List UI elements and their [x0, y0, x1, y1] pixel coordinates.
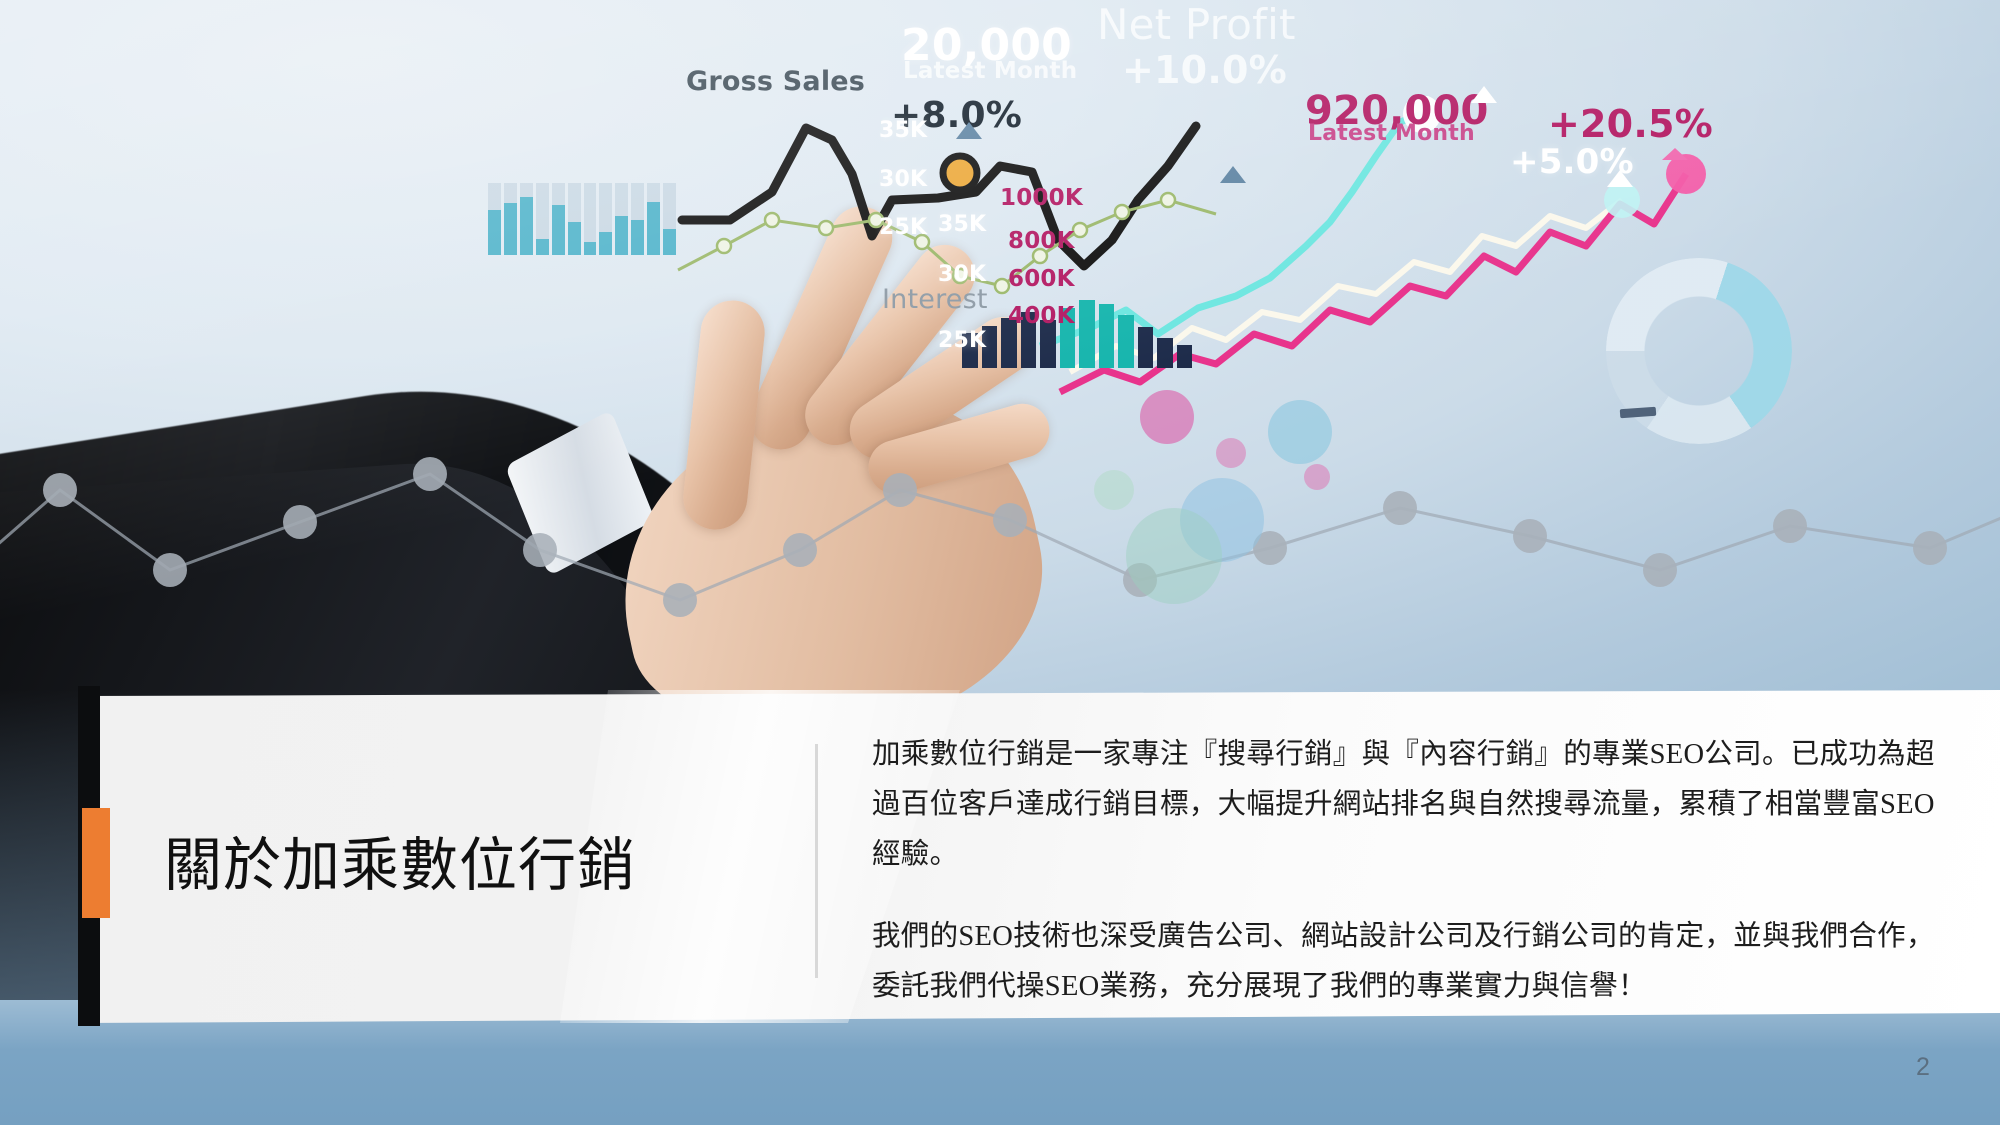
up-triangle-icon	[1471, 86, 1497, 103]
secondary-bar-chart	[962, 300, 1192, 368]
up-triangle-icon	[1662, 148, 1688, 160]
axis-tick-magenta-0: 1000K	[1000, 185, 1083, 211]
bubble	[1268, 400, 1332, 464]
axis-tick-magenta-1: 800K	[1008, 228, 1075, 254]
body-paragraph-2: 我們的SEO技術也深受廣告公司、網站設計公司及行銷公司的肯定，並與我們合作，委託…	[872, 912, 1942, 1012]
axis-tick-white-mid-0: 35K	[938, 212, 986, 237]
label-latest-month-b: Latest Month	[1308, 121, 1475, 146]
up-triangle-icon	[1607, 170, 1633, 187]
label-net-profit: Net Profit	[1097, 0, 1296, 49]
pct-10: +10.0%	[1122, 48, 1287, 92]
accent-bar	[82, 808, 110, 918]
dashboard-graphics: Gross Sales Interest 20,000 Latest Month…	[0, 0, 2000, 560]
bubble	[1216, 438, 1246, 468]
bubble	[1126, 508, 1222, 604]
pct-20-5: +20.5%	[1548, 102, 1713, 146]
axis-tick-magenta-3: 400K	[1008, 303, 1075, 329]
label-latest-month-a: Latest Month	[903, 58, 1077, 84]
axis-tick-white-mid-1: 30K	[938, 262, 986, 287]
page-title: 關於加乘數位行銷	[140, 790, 660, 930]
axis-tick-white-left-1: 30K	[879, 167, 927, 192]
up-triangle-icon	[956, 122, 982, 139]
bubble	[1094, 470, 1134, 510]
axis-tick-white-left-0: 35K	[879, 118, 927, 143]
up-triangle-icon	[1220, 166, 1246, 183]
axis-tick-white-mid-2: 25K	[938, 328, 986, 353]
body-paragraph-1: 加乘數位行銷是一家專注『搜尋行銷』與『內容行銷』的專業SEO公司。已成功為超過百…	[872, 730, 1942, 880]
axis-tick-white-left-2: 25K	[879, 215, 927, 240]
bubble	[1140, 390, 1194, 444]
label-gross-sales: Gross Sales	[686, 66, 865, 97]
label-interest: Interest	[882, 284, 988, 315]
slide: Gross Sales Interest 20,000 Latest Month…	[0, 0, 2000, 1125]
page-number: 2	[1916, 1053, 1930, 1082]
axis-tick-magenta-2: 600K	[1008, 266, 1075, 292]
bubble	[1304, 464, 1330, 490]
body-text: 加乘數位行銷是一家專注『搜尋行銷』與『內容行銷』的專業SEO公司。已成功為超過百…	[872, 730, 1942, 1012]
mini-bar-chart	[488, 183, 676, 255]
vertical-divider	[815, 744, 818, 978]
